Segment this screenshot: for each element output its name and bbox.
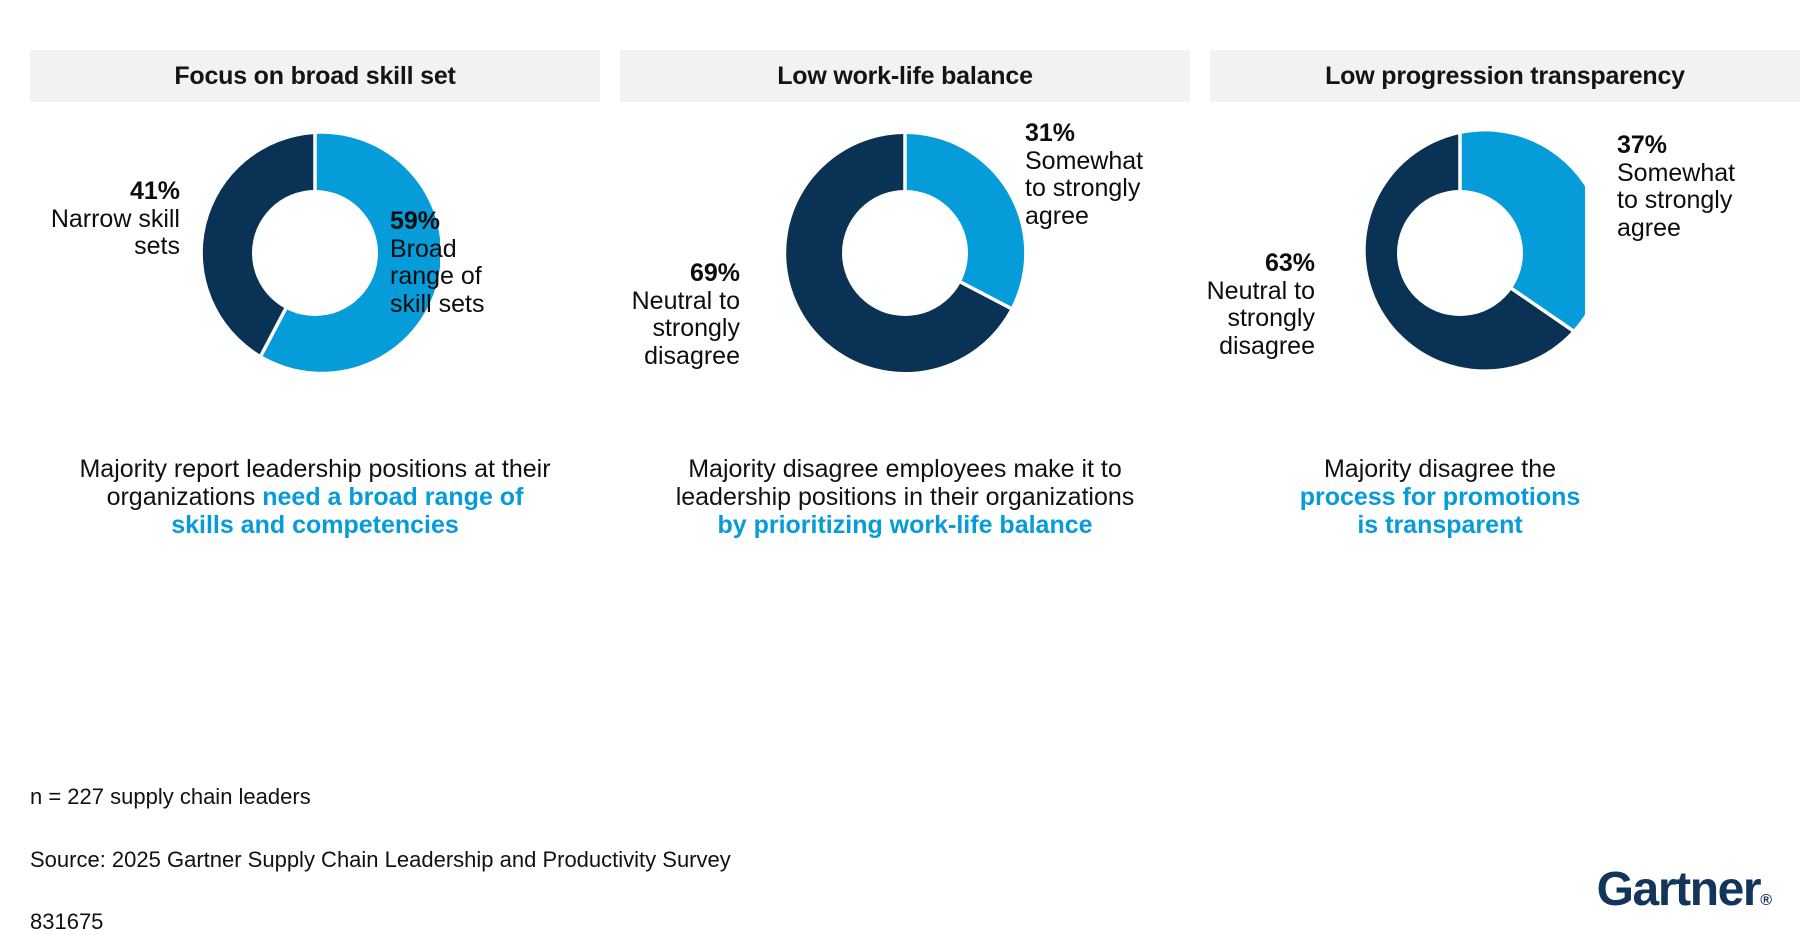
donut-chart-3	[1335, 128, 1585, 378]
chart-area-3: 63% Neutral to strongly disagree 37% Som…	[1210, 110, 1800, 440]
donut-label-right-1: 59% Broad range of skill sets	[390, 208, 580, 318]
panel-caption-2: Majority disagree employees make it to l…	[620, 455, 1190, 539]
panel-low-work-life-balance: Low work-life balance 69% Neutra	[620, 0, 1190, 560]
caption-highlight-2-1: by prioritizing work-life balance	[717, 511, 1092, 539]
footnote-sample-size: n = 227 supply chain leaders	[30, 784, 311, 809]
caption-highlight-3-2: is transparent	[1357, 511, 1522, 539]
panel-title-2: Low work-life balance	[777, 62, 1033, 91]
footnote-source: Source: 2025 Gartner Supply Chain Leader…	[30, 847, 731, 872]
panel-header-bar-3: Low progression transparency	[1210, 50, 1800, 102]
gartner-logo: Gartner®	[1597, 862, 1772, 917]
panel-title-3: Low progression transparency	[1325, 62, 1685, 91]
caption-line-2-2: leadership positions in their organizati…	[676, 483, 1135, 511]
donut-label-left-pct-1: 41%	[20, 178, 180, 206]
donut-label-left-1: 41% Narrow skill sets	[20, 178, 180, 261]
caption-highlight-3-1: process for promotions	[1300, 483, 1581, 511]
panel-title-1: Focus on broad skill set	[174, 62, 455, 91]
panel-caption-3: Majority disagree the process for promot…	[1190, 455, 1690, 539]
donut-label-left-3: 63% Neutral to strongly disagree	[1135, 250, 1315, 360]
panel-caption-1: Majority report leadership positions at …	[30, 455, 600, 539]
donut-label-left-pct-2: 69%	[560, 260, 740, 288]
donut-chart-2	[780, 128, 1030, 378]
donut-label-right-text-2: Somewhat to strongly agree	[1025, 147, 1143, 230]
gartner-logo-text: Gartner	[1597, 863, 1761, 916]
footnote-id: 831675	[30, 909, 103, 934]
donut-label-right-pct-2: 31%	[1025, 120, 1215, 148]
donut-label-right-pct-3: 37%	[1617, 132, 1800, 160]
donut-svg-3	[1335, 128, 1585, 378]
donut-label-left-text-2: Neutral to strongly disagree	[632, 287, 740, 370]
caption-line-3-1: Majority disagree the	[1324, 455, 1556, 483]
panel-focus-on-broad-skill-set: Focus on broad skill set 41% Nar	[30, 0, 600, 560]
donut-label-left-2: 69% Neutral to strongly disagree	[560, 260, 740, 370]
panel-header-bar-1: Focus on broad skill set	[30, 50, 600, 102]
caption-line-1-1: Majority report leadership positions at …	[79, 455, 550, 483]
footnote-block: n = 227 supply chain leaders Source: 202…	[30, 750, 731, 935]
caption-line-2-1: Majority disagree employees make it to	[688, 455, 1122, 483]
chart-area-2: 69% Neutral to strongly disagree 31% Som…	[620, 110, 1190, 440]
donut-label-right-pct-1: 59%	[390, 208, 580, 236]
donut-label-left-pct-3: 63%	[1135, 250, 1315, 278]
donut-label-left-text-1: Narrow skill sets	[51, 205, 180, 261]
donut-label-right-text-3: Somewhat to strongly agree	[1617, 159, 1735, 242]
donut-label-right-2: 31% Somewhat to strongly agree	[1025, 120, 1215, 230]
donut-label-left-text-3: Neutral to strongly disagree	[1207, 277, 1315, 360]
donut-label-right-3: 37% Somewhat to strongly agree	[1617, 132, 1800, 242]
chart-area-1: 41% Narrow skill sets 59% Broad range of…	[30, 110, 600, 440]
caption-highlight-1-2: skills and competencies	[171, 511, 459, 539]
donut-svg-2	[780, 128, 1030, 378]
infographic-canvas: Focus on broad skill set 41% Nar	[0, 0, 1800, 935]
panel-low-progression-transparency: Low progression transparency 63%	[1210, 0, 1800, 560]
caption-line-1-2: organizations	[107, 483, 263, 511]
registered-trademark-icon: ®	[1760, 892, 1772, 909]
donut-label-right-text-1: Broad range of skill sets	[390, 235, 484, 318]
panel-header-bar-2: Low work-life balance	[620, 50, 1190, 102]
caption-highlight-1-1: need a broad range of	[262, 483, 523, 511]
